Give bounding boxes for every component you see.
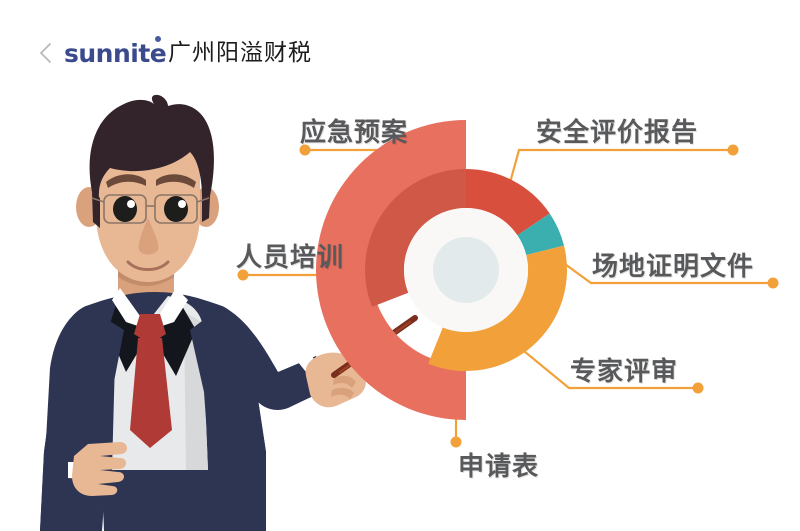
label-safety-evaluation-report[interactable]: 安全评价报告: [536, 112, 698, 149]
label-expert-review[interactable]: 专家评审: [570, 351, 678, 388]
infographic-page: sunnite 广州阳溢财税: [0, 0, 800, 531]
dot-site-document[interactable]: [768, 278, 779, 289]
label-emergency-plan[interactable]: 应急预案: [300, 112, 408, 149]
connector-safety-report: [508, 150, 733, 190]
eye-right-glint: [178, 200, 186, 208]
dot-expert-review[interactable]: [693, 383, 704, 394]
dot-safety-report[interactable]: [728, 145, 739, 156]
label-application-form[interactable]: 申请表: [458, 446, 539, 483]
eye-left-glint: [127, 200, 135, 208]
eye-left: [113, 196, 137, 222]
label-personnel-training[interactable]: 人员培训: [236, 237, 344, 274]
eye-right: [164, 196, 188, 222]
inner-core-circle: [433, 237, 499, 303]
label-site-certification-document[interactable]: 场地证明文件: [592, 246, 754, 283]
